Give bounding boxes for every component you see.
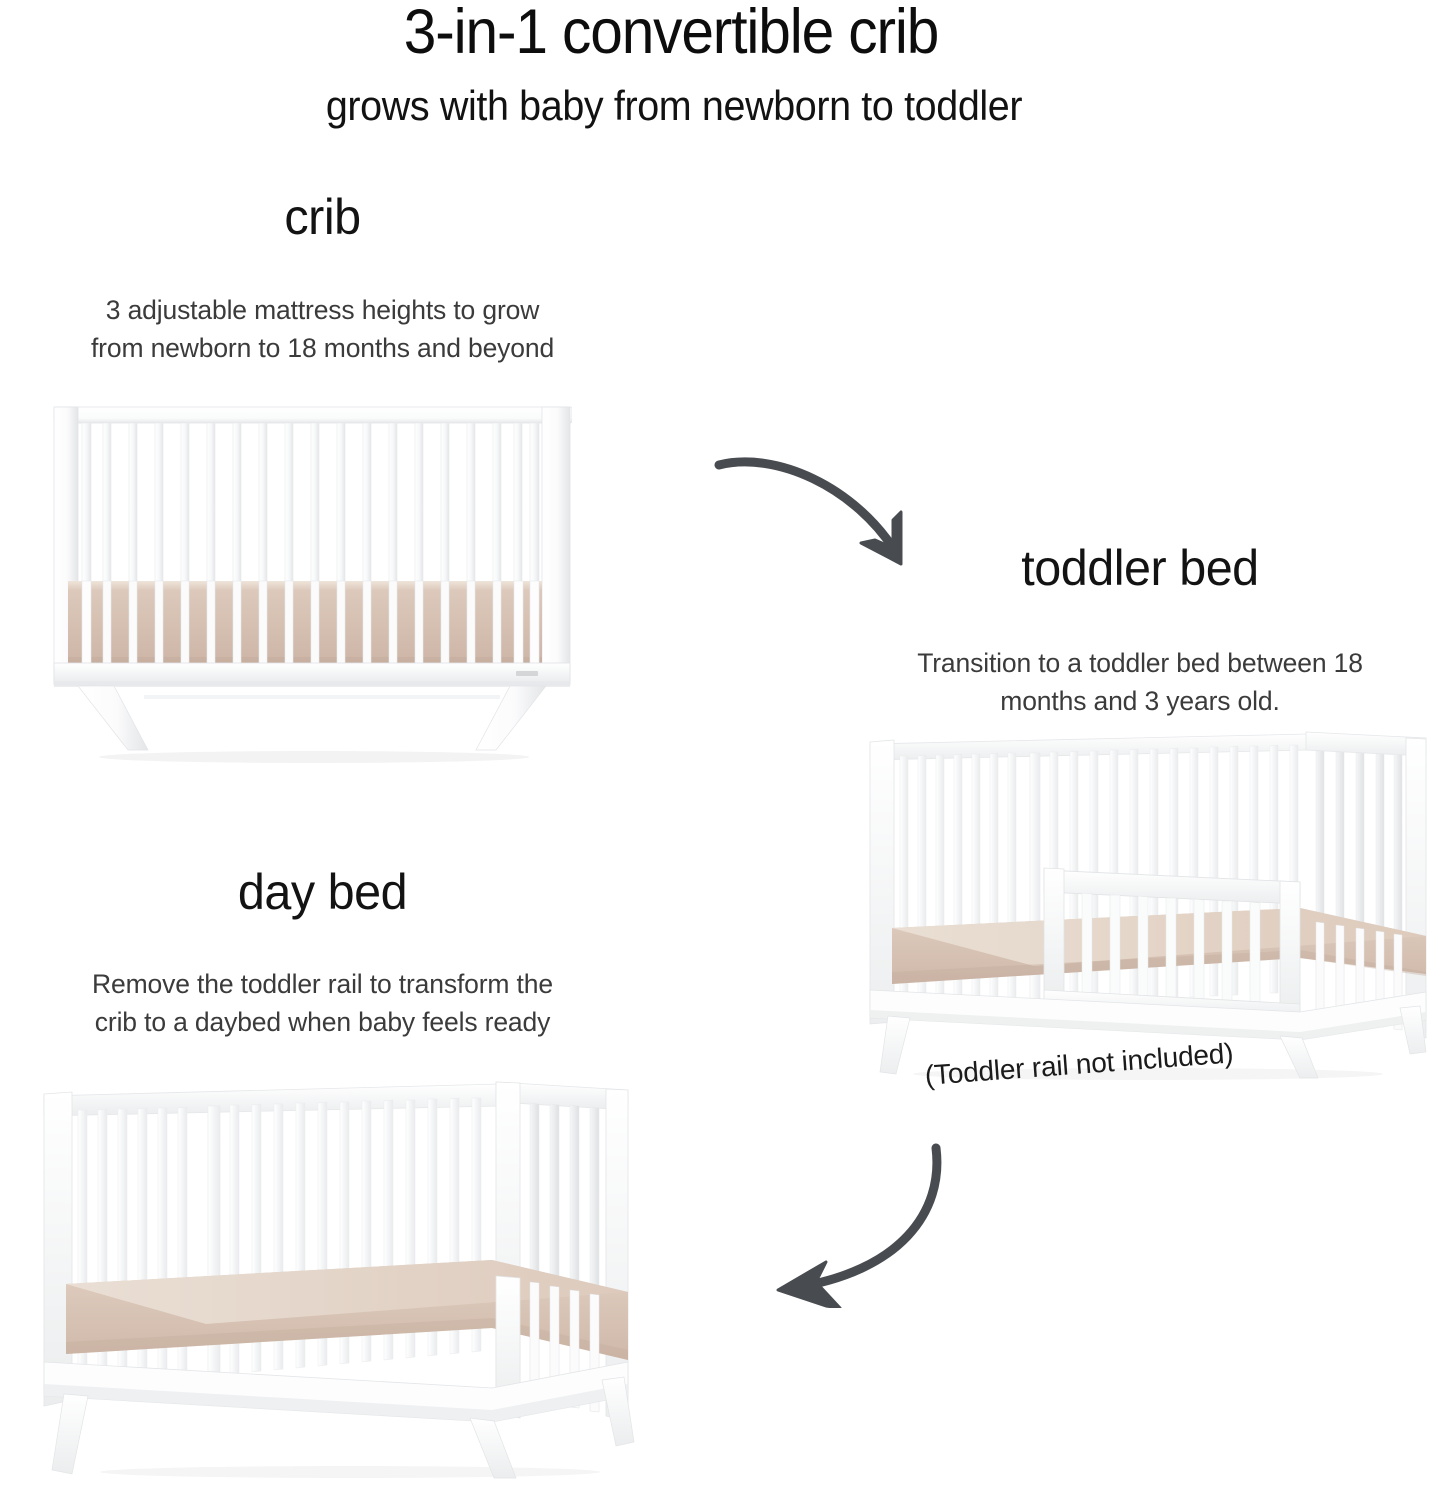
- section-heading-toddler-bed: toddler bed: [849, 541, 1431, 596]
- daybed-body-line-1: Remove the toddler rail to transform the: [20, 965, 625, 1003]
- section-heading-day-bed: day bed: [29, 865, 616, 920]
- toddler-body-line-2: months and 3 years old.: [840, 682, 1440, 720]
- toddler-bed-illustration: [848, 722, 1433, 1082]
- toddler-body-line-1: Transition to a toddler bed between 18: [840, 644, 1440, 682]
- crib-illustration: [52, 405, 572, 765]
- daybed-body-line-2: crib to a daybed when baby feels ready: [20, 1003, 625, 1041]
- section-body-crib: 3 adjustable mattress heights to grow fr…: [20, 291, 625, 368]
- section-body-toddler-bed: Transition to a toddler bed between 18 m…: [840, 644, 1440, 721]
- curved-arrow-icon: [748, 1138, 968, 1308]
- section-heading-crib: crib: [29, 190, 616, 245]
- day-bed-illustration: [30, 1070, 650, 1480]
- crib-body-line-2: from newborn to 18 months and beyond: [20, 329, 625, 367]
- page-subtitle: grows with baby from newborn to toddler: [40, 82, 1307, 129]
- page-title: 3-in-1 convertible crib: [47, 0, 1295, 66]
- infographic-page: 3-in-1 convertible crib grows with baby …: [0, 0, 1442, 1500]
- crib-body-line-1: 3 adjustable mattress heights to grow: [20, 291, 625, 329]
- arrow-toddler-to-daybed: [748, 1138, 968, 1313]
- section-body-day-bed: Remove the toddler rail to transform the…: [20, 965, 625, 1042]
